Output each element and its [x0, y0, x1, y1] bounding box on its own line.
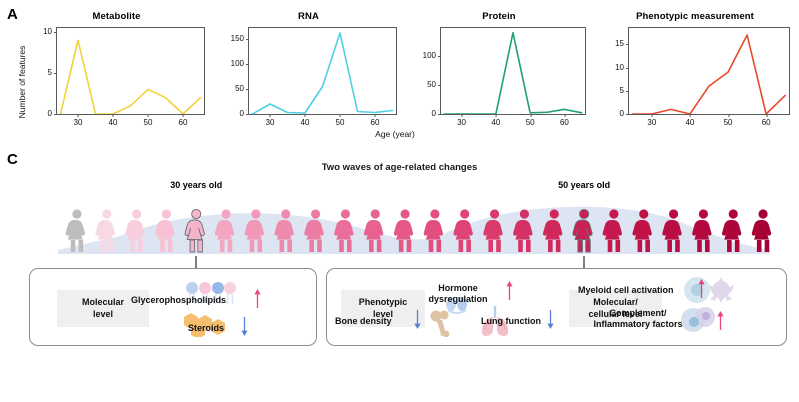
x-tick-30: 30	[266, 119, 275, 127]
y-tick-0: 0	[48, 110, 52, 118]
x-tick-30: 30	[647, 119, 656, 127]
chart-protein: Protein 05010030405060	[408, 10, 590, 145]
female-figure	[394, 209, 413, 252]
arrow-up-icon-complement	[716, 311, 725, 330]
fact-steroids: Steroids	[188, 323, 224, 334]
x-tick-60: 60	[762, 119, 771, 127]
fact-myeloid-cell-activation: Myeloid cell activation	[578, 285, 674, 296]
plot-area-metabolite: 051030405060	[56, 27, 205, 115]
x-tick-50: 50	[336, 119, 345, 127]
female-figure	[304, 209, 323, 252]
female-figure	[513, 209, 532, 252]
panel-letter-a: A	[7, 6, 18, 23]
female-figure	[573, 209, 592, 252]
y-tick-100: 100	[231, 60, 244, 68]
plot-wrap-phenotypic: 05101530405060	[596, 23, 794, 141]
y-tick-150: 150	[231, 35, 244, 43]
female-figure	[245, 209, 264, 252]
y-tick-10: 10	[615, 64, 624, 72]
chart-metabolite: Metabolite Number of features 0510304050…	[24, 10, 209, 145]
x-axis-title: Age (year)	[340, 129, 450, 139]
myeloid-cell-icon	[681, 275, 737, 305]
female-figure	[364, 209, 383, 252]
x-tick-40: 40	[685, 119, 694, 127]
y-axis-title: Number of features	[17, 46, 27, 119]
female-figure	[483, 209, 502, 252]
x-tick-40: 40	[491, 119, 500, 127]
panel-c-waves: C Two waves of age-related changes 30 ye…	[0, 148, 799, 402]
chart-title-protein: Protein	[408, 10, 590, 23]
arrow-up-icon-hormone	[505, 281, 514, 300]
x-tick-30: 30	[74, 119, 83, 127]
fact-glycerophospholipids: Glycerophospholipids	[131, 295, 226, 306]
level-tag-cellular-line-1: Molecular/	[593, 297, 638, 307]
fact-complement-line-1: Complement/	[609, 308, 666, 318]
y-tick-0: 0	[620, 110, 624, 118]
female-figure	[66, 209, 85, 252]
y-tick-50: 50	[235, 85, 244, 93]
female-figure	[722, 209, 741, 252]
female-figure	[95, 209, 114, 252]
chart-title-metabolite: Metabolite	[24, 10, 209, 23]
female-figure	[185, 209, 204, 252]
fact-complement-line-2: Inflammatory factors	[593, 319, 682, 329]
level-tag-line-2: level	[93, 309, 113, 319]
plot-area-phenotypic: 05101530405060	[628, 27, 790, 115]
fact-hormone-line-2: dysregulation	[428, 294, 487, 304]
y-tick-100: 100	[423, 52, 436, 60]
y-tick-0: 0	[240, 110, 244, 118]
plot-area-rna: 05010015030405060	[248, 27, 397, 115]
panel-c-title: Two waves of age-related changes	[0, 162, 799, 173]
female-figure	[334, 209, 353, 252]
x-tick-60: 60	[371, 119, 380, 127]
x-tick-40: 40	[301, 119, 310, 127]
chart-phenotypic-measurement: Phenotypic measurement 05101530405060	[596, 10, 794, 145]
molecular-level-box: Molecular level Glycerophospholipids	[29, 268, 317, 346]
plot-wrap-protein: 05010030405060	[408, 23, 590, 141]
x-tick-50: 50	[144, 119, 153, 127]
y-tick-5: 5	[48, 69, 52, 77]
fact-lung-function: Lung function	[481, 316, 541, 327]
y-tick-10: 10	[43, 28, 52, 36]
x-tick-60: 60	[560, 119, 569, 127]
plot-wrap-rna: 05010015030405060	[216, 23, 401, 141]
arrow-down-icon-lung-function	[546, 310, 555, 329]
female-figure	[125, 209, 144, 252]
chart-title-phenotypic: Phenotypic measurement	[596, 10, 794, 23]
line-series-phenotypic	[629, 28, 789, 114]
fact-complement-inflammatory-factors: Complement/ Inflammatory factors	[593, 308, 682, 330]
x-tick-60: 60	[179, 119, 188, 127]
female-figure	[274, 209, 293, 252]
plot-area-protein: 05010030405060	[440, 27, 586, 115]
x-tick-30: 30	[457, 119, 466, 127]
population-figures-strip	[0, 196, 799, 258]
phenotypic-and-cellular-box: Phenotypic level Hormone dysregulation	[326, 268, 787, 346]
female-figure	[543, 209, 562, 252]
y-tick-15: 15	[615, 40, 624, 48]
chart-title-rna: RNA	[216, 10, 401, 23]
line-series-protein	[441, 28, 585, 114]
arrow-up-icon-myeloid	[697, 279, 706, 298]
panel-a-charts: A Metabolite Number of features 05103040…	[0, 0, 799, 148]
line-series-rna	[249, 28, 396, 114]
female-figure	[603, 209, 622, 252]
age-marker-30: 30 years old	[170, 180, 222, 190]
arrow-up-icon-glycerophospholipids	[253, 289, 262, 308]
female-figure	[662, 209, 681, 252]
age-marker-50: 50 years old	[558, 180, 610, 190]
level-tag-line-1: Molecular	[82, 297, 124, 307]
female-figure	[752, 209, 771, 252]
fact-hormone-line-1: Hormone	[438, 283, 478, 293]
complement-cell-icon	[679, 303, 719, 335]
fact-hormone-dysregulation: Hormone dysregulation	[428, 283, 487, 305]
female-figure	[632, 209, 651, 252]
female-figure	[155, 209, 174, 252]
x-tick-40: 40	[109, 119, 118, 127]
arrow-down-icon-steroids	[240, 317, 249, 336]
x-tick-50: 50	[724, 119, 733, 127]
plot-wrap-metabolite: Number of features 051030405060	[24, 23, 209, 141]
y-tick-50: 50	[427, 81, 436, 89]
bone-icon	[427, 309, 455, 337]
female-figure-row	[0, 196, 799, 258]
fact-bone-density: Bone density	[335, 316, 392, 327]
female-figure	[215, 209, 234, 252]
x-tick-50: 50	[526, 119, 535, 127]
y-tick-0: 0	[432, 110, 436, 118]
arrow-down-icon-bone-density	[413, 310, 422, 329]
y-tick-5: 5	[620, 87, 624, 95]
chart-rna: RNA 05010015030405060	[216, 10, 401, 145]
line-series-metabolite	[57, 28, 204, 114]
female-figure	[453, 209, 472, 252]
female-figure	[424, 209, 443, 252]
level-tag-phenotypic-line-1: Phenotypic	[359, 297, 408, 307]
female-figure	[692, 209, 711, 252]
